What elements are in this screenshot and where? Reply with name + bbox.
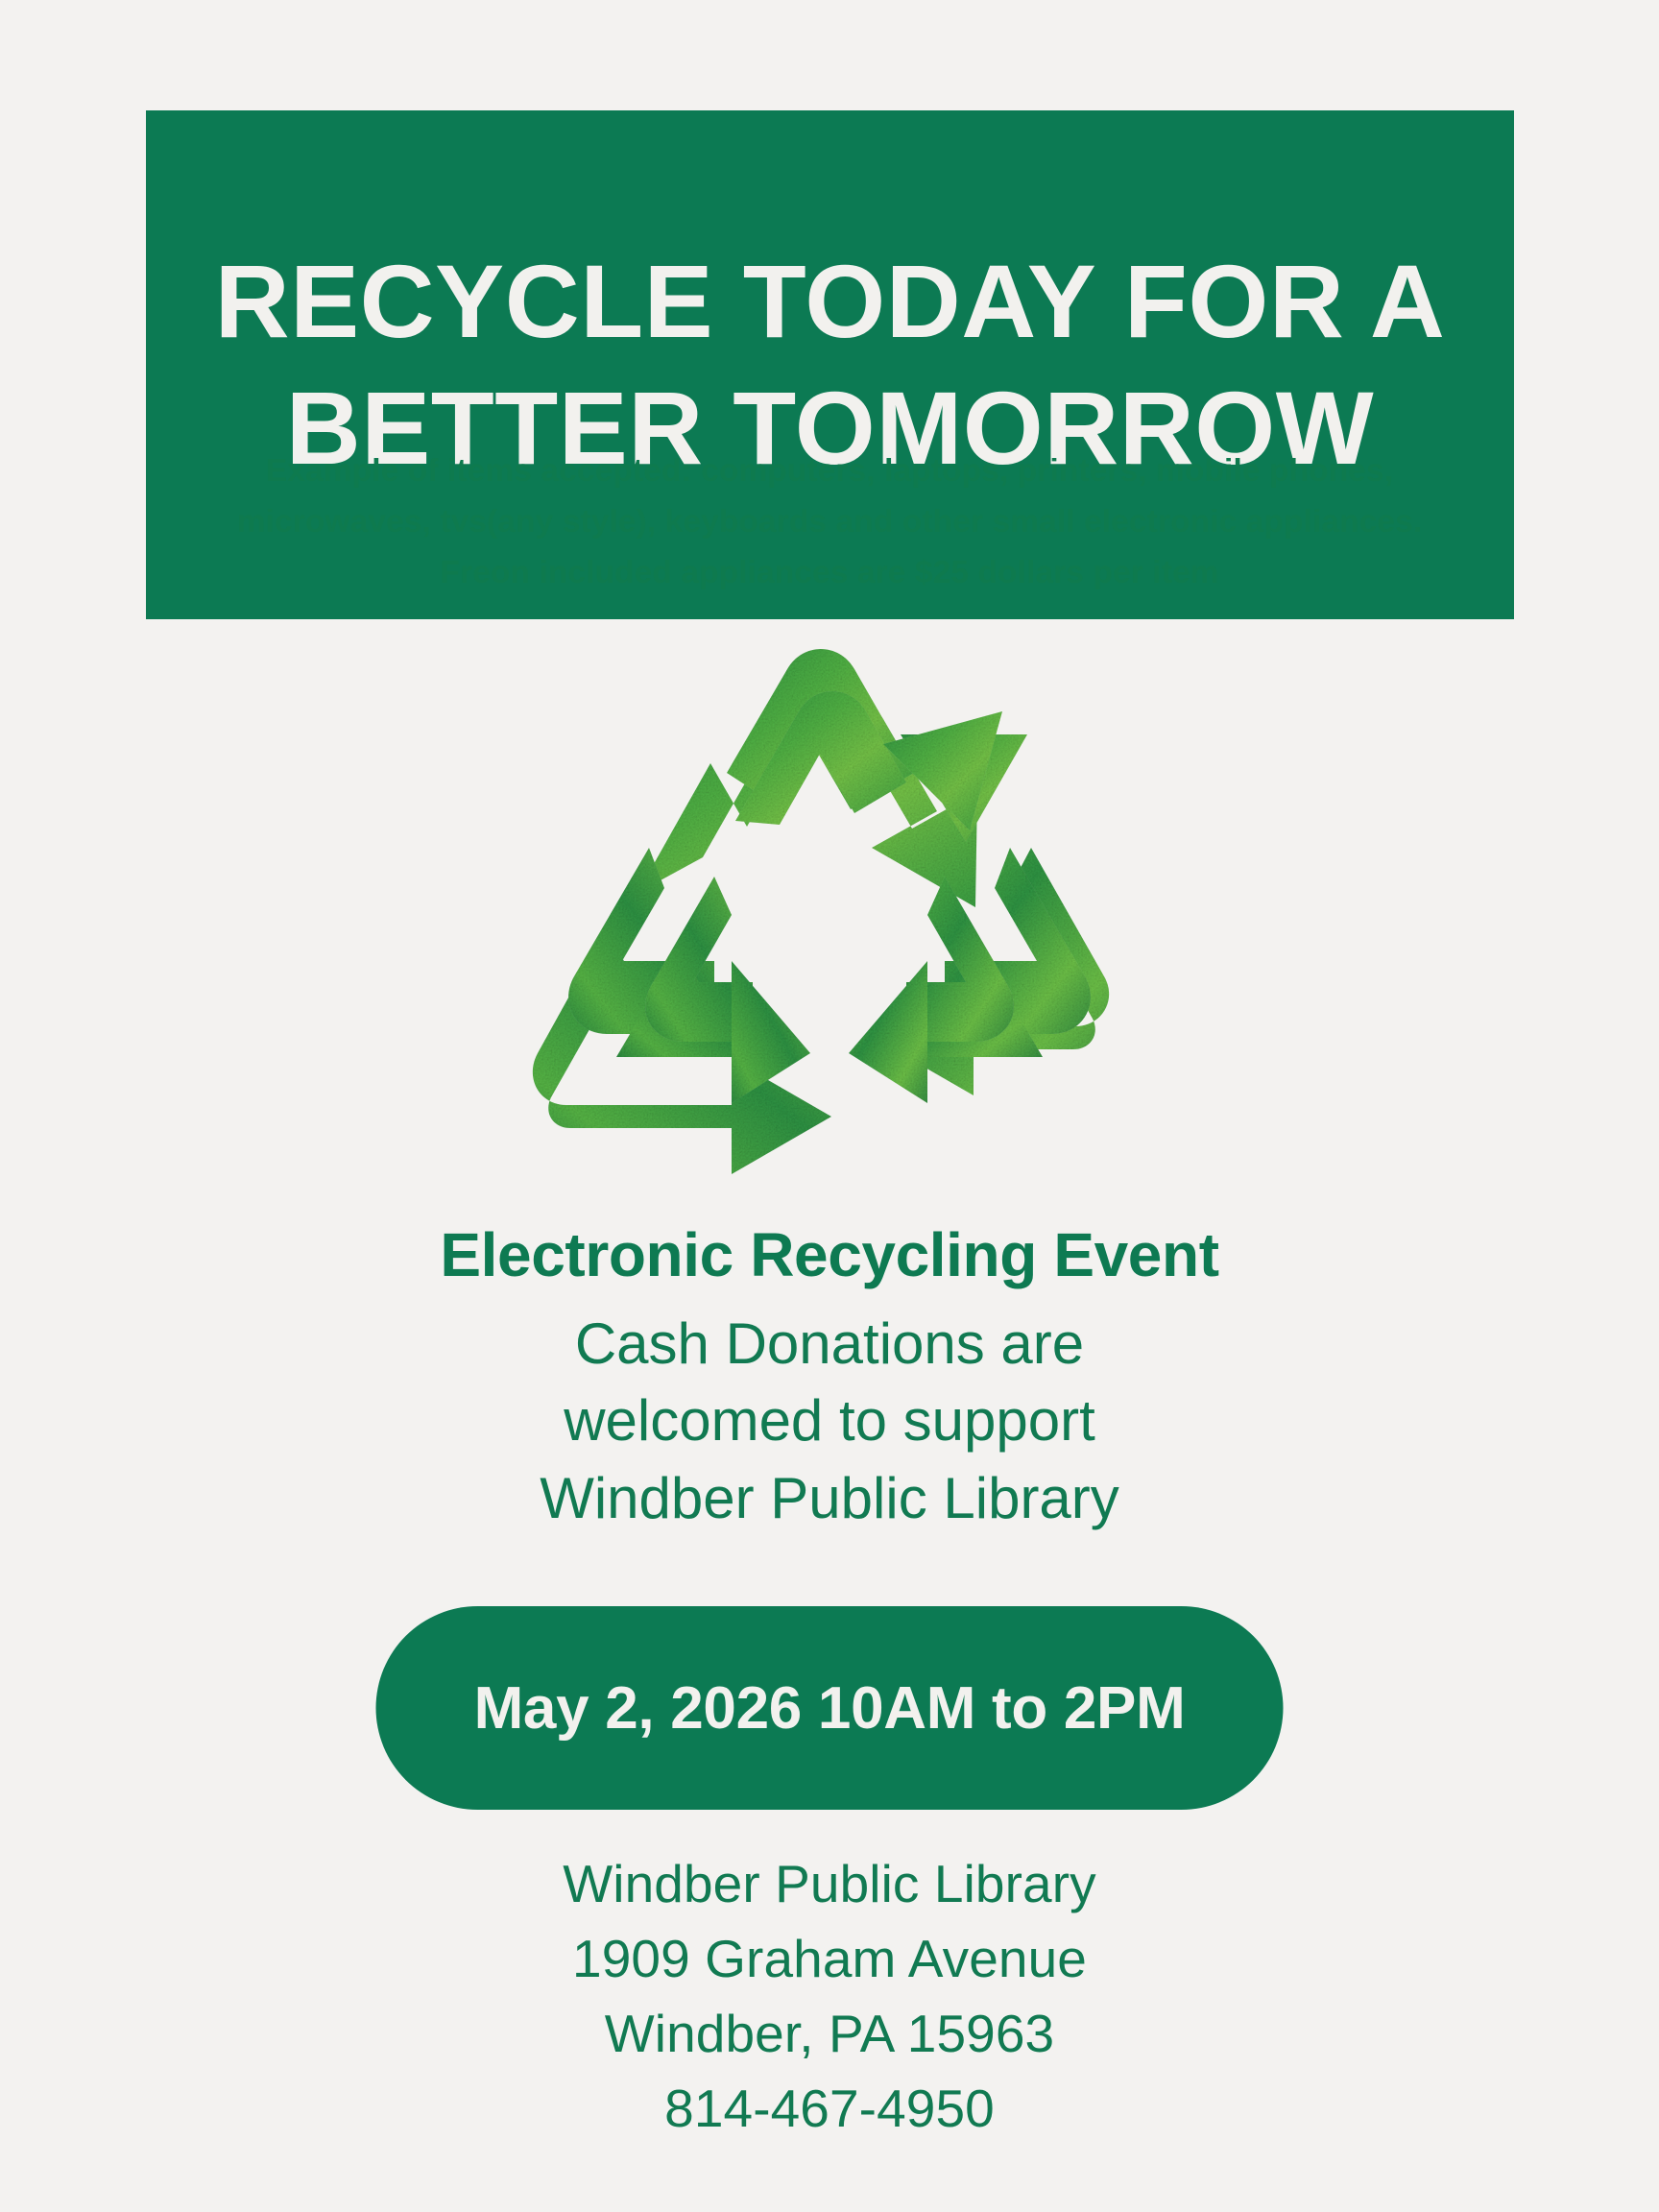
accepted-items-line-3: Freon included appliances are $25 dollar… <box>100 548 1559 599</box>
donation-line-1: Cash Donations are <box>0 1306 1659 1382</box>
header-title-line-1: RECYCLE TODAY FOR A <box>215 238 1446 365</box>
recycle-symbol-icon <box>493 619 1166 1205</box>
event-date-label: May 2, 2026 10AM to 2PM <box>474 1674 1186 1743</box>
accepted-items-line-2: microwaves, tvs(any style), keyboards an… <box>100 497 1559 548</box>
flyer-page: RECYCLE TODAY FOR A BETTER TOMORROW Exam… <box>0 0 1659 2212</box>
donation-block: Cash Donations are welcomed to support W… <box>0 1306 1659 1537</box>
address-block: Windber Public Library 1909 Graham Avenu… <box>0 1846 1659 2146</box>
event-title: Electronic Recycling Event <box>0 1221 1659 1288</box>
accepted-items-line-1: Example of items accepted: computers, la… <box>100 446 1559 497</box>
address-line-street: 1909 Graham Avenue <box>0 1921 1659 1996</box>
donation-line-3: Windber Public Library <box>0 1460 1659 1537</box>
donation-line-2: welcomed to support <box>0 1382 1659 1459</box>
event-date-badge: May 2, 2026 10AM to 2PM <box>376 1606 1284 1810</box>
address-line-venue: Windber Public Library <box>0 1846 1659 1921</box>
accepted-items-block: Example of items accepted: computers, la… <box>100 446 1559 599</box>
address-line-city-state-zip: Windber, PA 15963 <box>0 1996 1659 2071</box>
address-line-phone: 814-467-4950 <box>0 2071 1659 2146</box>
